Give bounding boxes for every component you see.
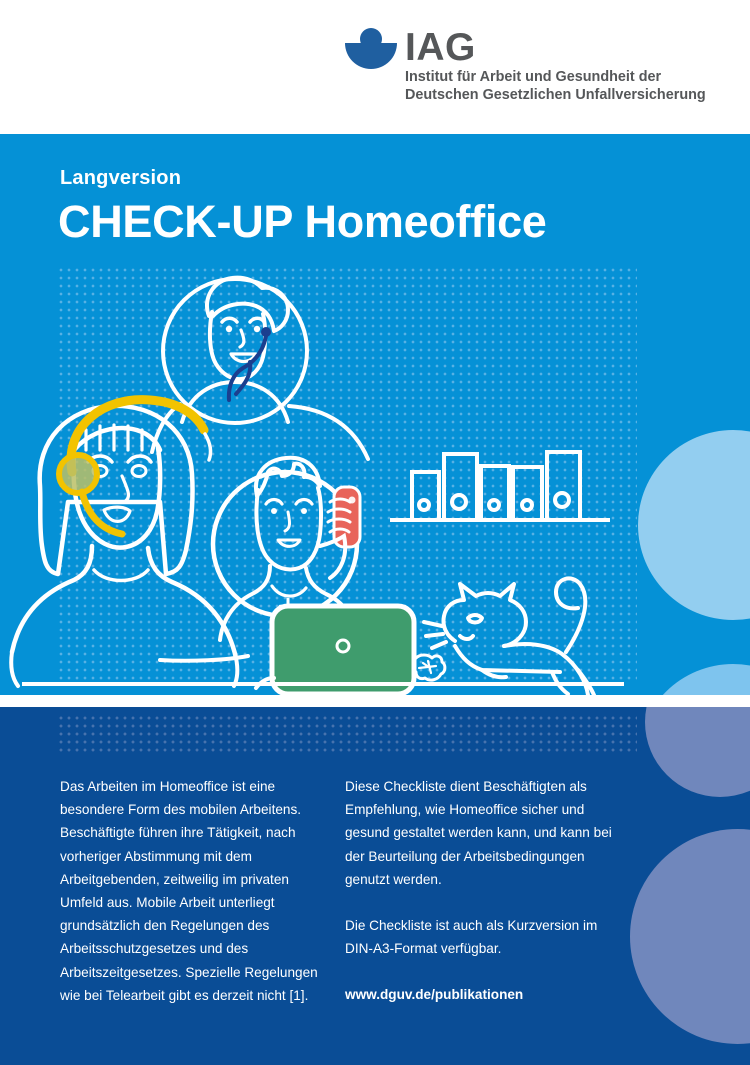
logo-subtitle-line-2: Deutschen Gesetzlichen Unfallversicherun… [405,87,706,104]
publications-url[interactable]: www.dguv.de/publikationen [345,983,620,1006]
logo-abbreviation: IAG [405,28,706,68]
publication-cover: IAG Institut für Arbeit und Gesundheit d… [0,0,750,1065]
kicker-label: Langversion [60,167,181,190]
desk-arm-illustration [11,652,248,686]
logo-text-block: IAG Institut für Arbeit und Gesundheit d… [405,28,706,104]
short-version-paragraph: Die Checkliste ist auch als Kurzversion … [345,914,620,960]
footer-band: Das Arbeiten im Homeoffice ist eine beso… [0,707,750,1065]
iag-logo-mark-icon [345,28,397,68]
page-title: CHECK-UP Homeoffice [58,196,547,248]
intro-paragraph: Das Arbeiten im Homeoffice ist eine beso… [60,775,335,1007]
green-laptop-illustration [256,606,414,694]
desk-surface-line [22,682,624,686]
footer-dot-pattern [57,714,637,756]
hero-band: Langversion CHECK-UP Homeoffice [0,134,750,695]
binder-shelf-icon [390,452,610,520]
checklist-purpose-paragraph: Diese Checkliste dient Beschäftigten als… [345,775,620,891]
section-divider [0,695,750,707]
header-band: IAG Institut für Arbeit und Gesundheit d… [0,0,750,134]
footer-text-columns: Das Arbeiten im Homeoffice ist eine beso… [0,775,750,1007]
footer-right-column: Diese Checkliste dient Beschäftigten als… [345,775,620,1007]
iag-logo: IAG Institut für Arbeit und Gesundheit d… [345,28,706,104]
home-office-illustration [0,254,660,695]
logo-bowl-shape [345,43,397,69]
logo-subtitle-line-1: Institut für Arbeit und Gesundheit der [405,69,706,86]
cat-illustration [413,578,594,695]
footer-left-column: Das Arbeiten im Homeoffice ist eine beso… [60,775,335,1007]
man-portrait-circle-illustration [152,278,368,459]
woman-with-headset-illustration [12,400,236,658]
